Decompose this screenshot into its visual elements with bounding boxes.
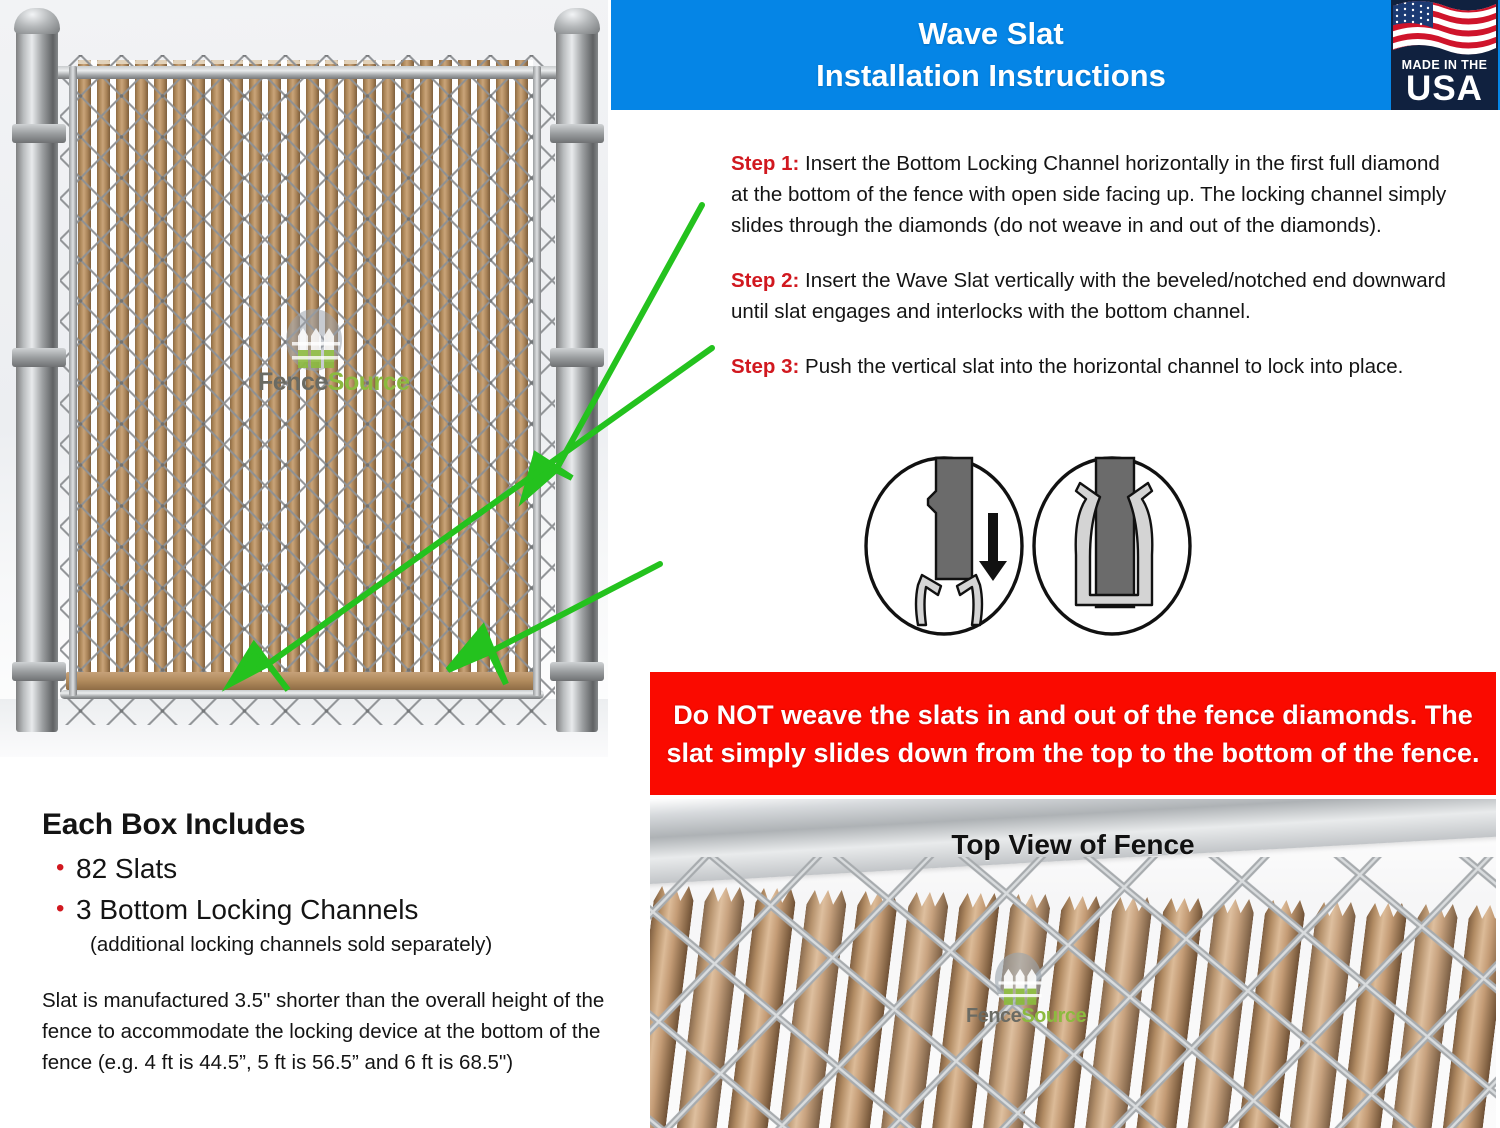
step-3-text: Push the vertical slat into the horizont… [799,355,1403,378]
wave-slat [344,60,357,690]
wave-slat [173,60,186,690]
header-bar: Wave Slat Installation Instructions [611,0,1500,110]
top-view-photo: Top View of Fence [650,799,1496,1128]
wave-slat [325,60,338,690]
wave-slat [268,60,281,690]
wave-slat [515,60,528,690]
step-2-text: Insert the Wave Slat vertically with the… [731,269,1446,323]
wave-slat [230,60,243,690]
box-includes-list: • 82 Slats • 3 Bottom Locking Channels [42,848,622,930]
list-item-label: 3 Bottom Locking Channels [76,894,418,925]
wave-slat [116,60,129,690]
bullet-icon: • [56,888,64,929]
post-band-right-lower [550,662,604,681]
slat-height-note: Slat is manufactured 3.5" shorter than t… [42,985,622,1078]
box-includes-heading: Each Box Includes [42,808,622,842]
top-rail [46,66,561,79]
top-view-label: Top View of Fence [650,829,1496,861]
fence-installation-photo: FenceSource [0,0,608,757]
wave-slat [192,60,205,690]
tension-bar-right [533,66,541,696]
instruction-sheet: FenceSource Wave Slat Installation Instr… [0,0,1500,1128]
step-1-label: Step 1: [731,152,799,175]
step-2: Step 2: Insert the Wave Slat vertically … [731,265,1453,327]
wave-slat [477,60,490,690]
wave-slat [458,60,471,690]
page-title: Wave Slat Installation Instructions [611,13,1371,97]
wave-slat [363,60,376,690]
box-includes-subnote: (additional locking channels sold separa… [90,931,622,959]
step-1-text: Insert the Bottom Locking Channel horizo… [731,152,1446,237]
step-3: Step 3: Push the vertical slat into the … [731,351,1453,382]
made-in-usa-badge: MADE IN THE USA [1391,0,1498,110]
wave-slat [382,60,395,690]
step-1: Step 1: Insert the Bottom Locking Channe… [731,148,1453,241]
step-2-label: Step 2: [731,269,799,292]
post-cap-left [14,8,60,34]
wave-slat [287,60,300,690]
post-band-left-lower [12,662,66,681]
top-view-chain-link [650,857,1496,1128]
warning-text: Do NOT weave the slats in and out of the… [650,696,1496,772]
tension-bar-left [69,66,77,696]
badge-usa: USA [1391,70,1498,108]
list-item: • 82 Slats [42,848,622,889]
step-3-label: Step 3: [731,355,799,378]
photo-ground [0,699,608,757]
wave-slat [135,60,148,690]
wave-slat [97,60,110,690]
wave-slat [154,60,167,690]
steps-section: Step 1: Insert the Bottom Locking Channe… [731,148,1453,382]
title-line-2: Installation Instructions [611,55,1371,97]
list-item: • 3 Bottom Locking Channels [42,889,622,930]
wave-slat [306,60,319,690]
diagram-circle-locked [1034,458,1190,634]
wave-slat [496,60,509,690]
american-flag-icon [1391,0,1498,60]
bottom-locking-channel [66,672,536,690]
post-band-left-upper [12,124,66,143]
wave-slat [401,60,414,690]
slat-group [78,60,533,690]
wave-slat [211,60,224,690]
box-includes-section: Each Box Includes • 82 Slats • 3 Bottom … [42,808,622,1078]
bottom-rail [60,690,544,699]
slat-locking-diagram [862,455,1192,637]
title-line-1: Wave Slat [611,13,1371,55]
warning-banner: Do NOT weave the slats in and out of the… [650,672,1496,795]
bullet-icon: • [56,847,64,888]
post-band-right-upper [550,124,604,143]
wave-slat [439,60,452,690]
list-item-label: 82 Slats [76,853,177,884]
diagram-circle-insert [866,458,1022,634]
post-band-left-mid [12,348,66,367]
post-cap-right [554,8,600,34]
wave-slat [78,60,91,690]
wave-slat [420,60,433,690]
wave-slat [249,60,262,690]
post-band-right-mid [550,348,604,367]
